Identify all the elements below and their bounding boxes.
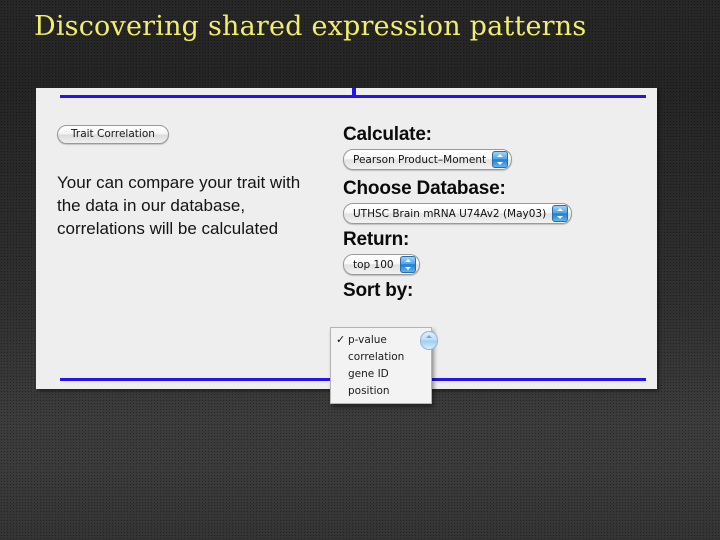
sort-by-label: Sort by:	[343, 280, 643, 301]
updown-arrows-icon	[492, 151, 508, 168]
menu-item-position[interactable]: position	[331, 382, 431, 399]
menu-item-p-value[interactable]: ✓ p-value	[331, 331, 431, 348]
return-field: Return: top 100	[343, 229, 643, 275]
menu-item-gene-id[interactable]: gene ID	[331, 365, 431, 382]
return-count-select[interactable]: top 100	[343, 254, 420, 275]
page-title: Discovering shared expression patterns	[34, 11, 586, 42]
return-count-value: top 100	[353, 259, 400, 271]
calculate-label: Calculate:	[343, 124, 643, 145]
return-label: Return:	[343, 229, 643, 250]
calculate-field: Calculate: Pearson Product–Moment	[343, 124, 643, 173]
slide: Discovering shared expression patterns T…	[0, 0, 720, 540]
calculate-method-select[interactable]: Pearson Product–Moment	[343, 149, 512, 170]
database-label: Choose Database:	[343, 178, 643, 199]
sort-by-open-menu[interactable]: ✓ p-value correlation gene ID position	[330, 327, 432, 404]
sort-by-field: Sort by:	[343, 280, 643, 301]
panel-top-rule-tick	[352, 88, 356, 96]
menu-item-label: correlation	[348, 351, 431, 363]
database-value: UTHSC Brain mRNA U74Av2 (May03)	[353, 208, 552, 220]
menu-item-correlation[interactable]: correlation	[331, 348, 431, 365]
database-select[interactable]: UTHSC Brain mRNA U74Av2 (May03)	[343, 203, 572, 224]
left-column: Trait Correlation Your can compare your …	[57, 124, 347, 240]
calculate-method-value: Pearson Product–Moment	[353, 154, 492, 166]
menu-item-label: gene ID	[348, 368, 431, 380]
checkmark-icon: ✓	[336, 333, 348, 346]
updown-arrows-icon	[552, 205, 568, 222]
updown-arrows-icon	[420, 331, 438, 350]
menu-item-label: position	[348, 385, 431, 397]
description-line-3: correlations will be calculated	[57, 217, 347, 240]
description-line-1: Your can compare your trait with	[57, 171, 347, 194]
updown-arrows-icon	[400, 256, 416, 273]
right-column: Calculate: Pearson Product–Moment Choose…	[343, 124, 643, 306]
description-line-2: the data in our database,	[57, 194, 347, 217]
database-field: Choose Database: UTHSC Brain mRNA U74Av2…	[343, 178, 643, 224]
trait-correlation-tab-button[interactable]: Trait Correlation	[57, 125, 169, 144]
menu-item-label: p-value	[348, 334, 431, 346]
description-text: Your can compare your trait with the dat…	[57, 171, 347, 240]
